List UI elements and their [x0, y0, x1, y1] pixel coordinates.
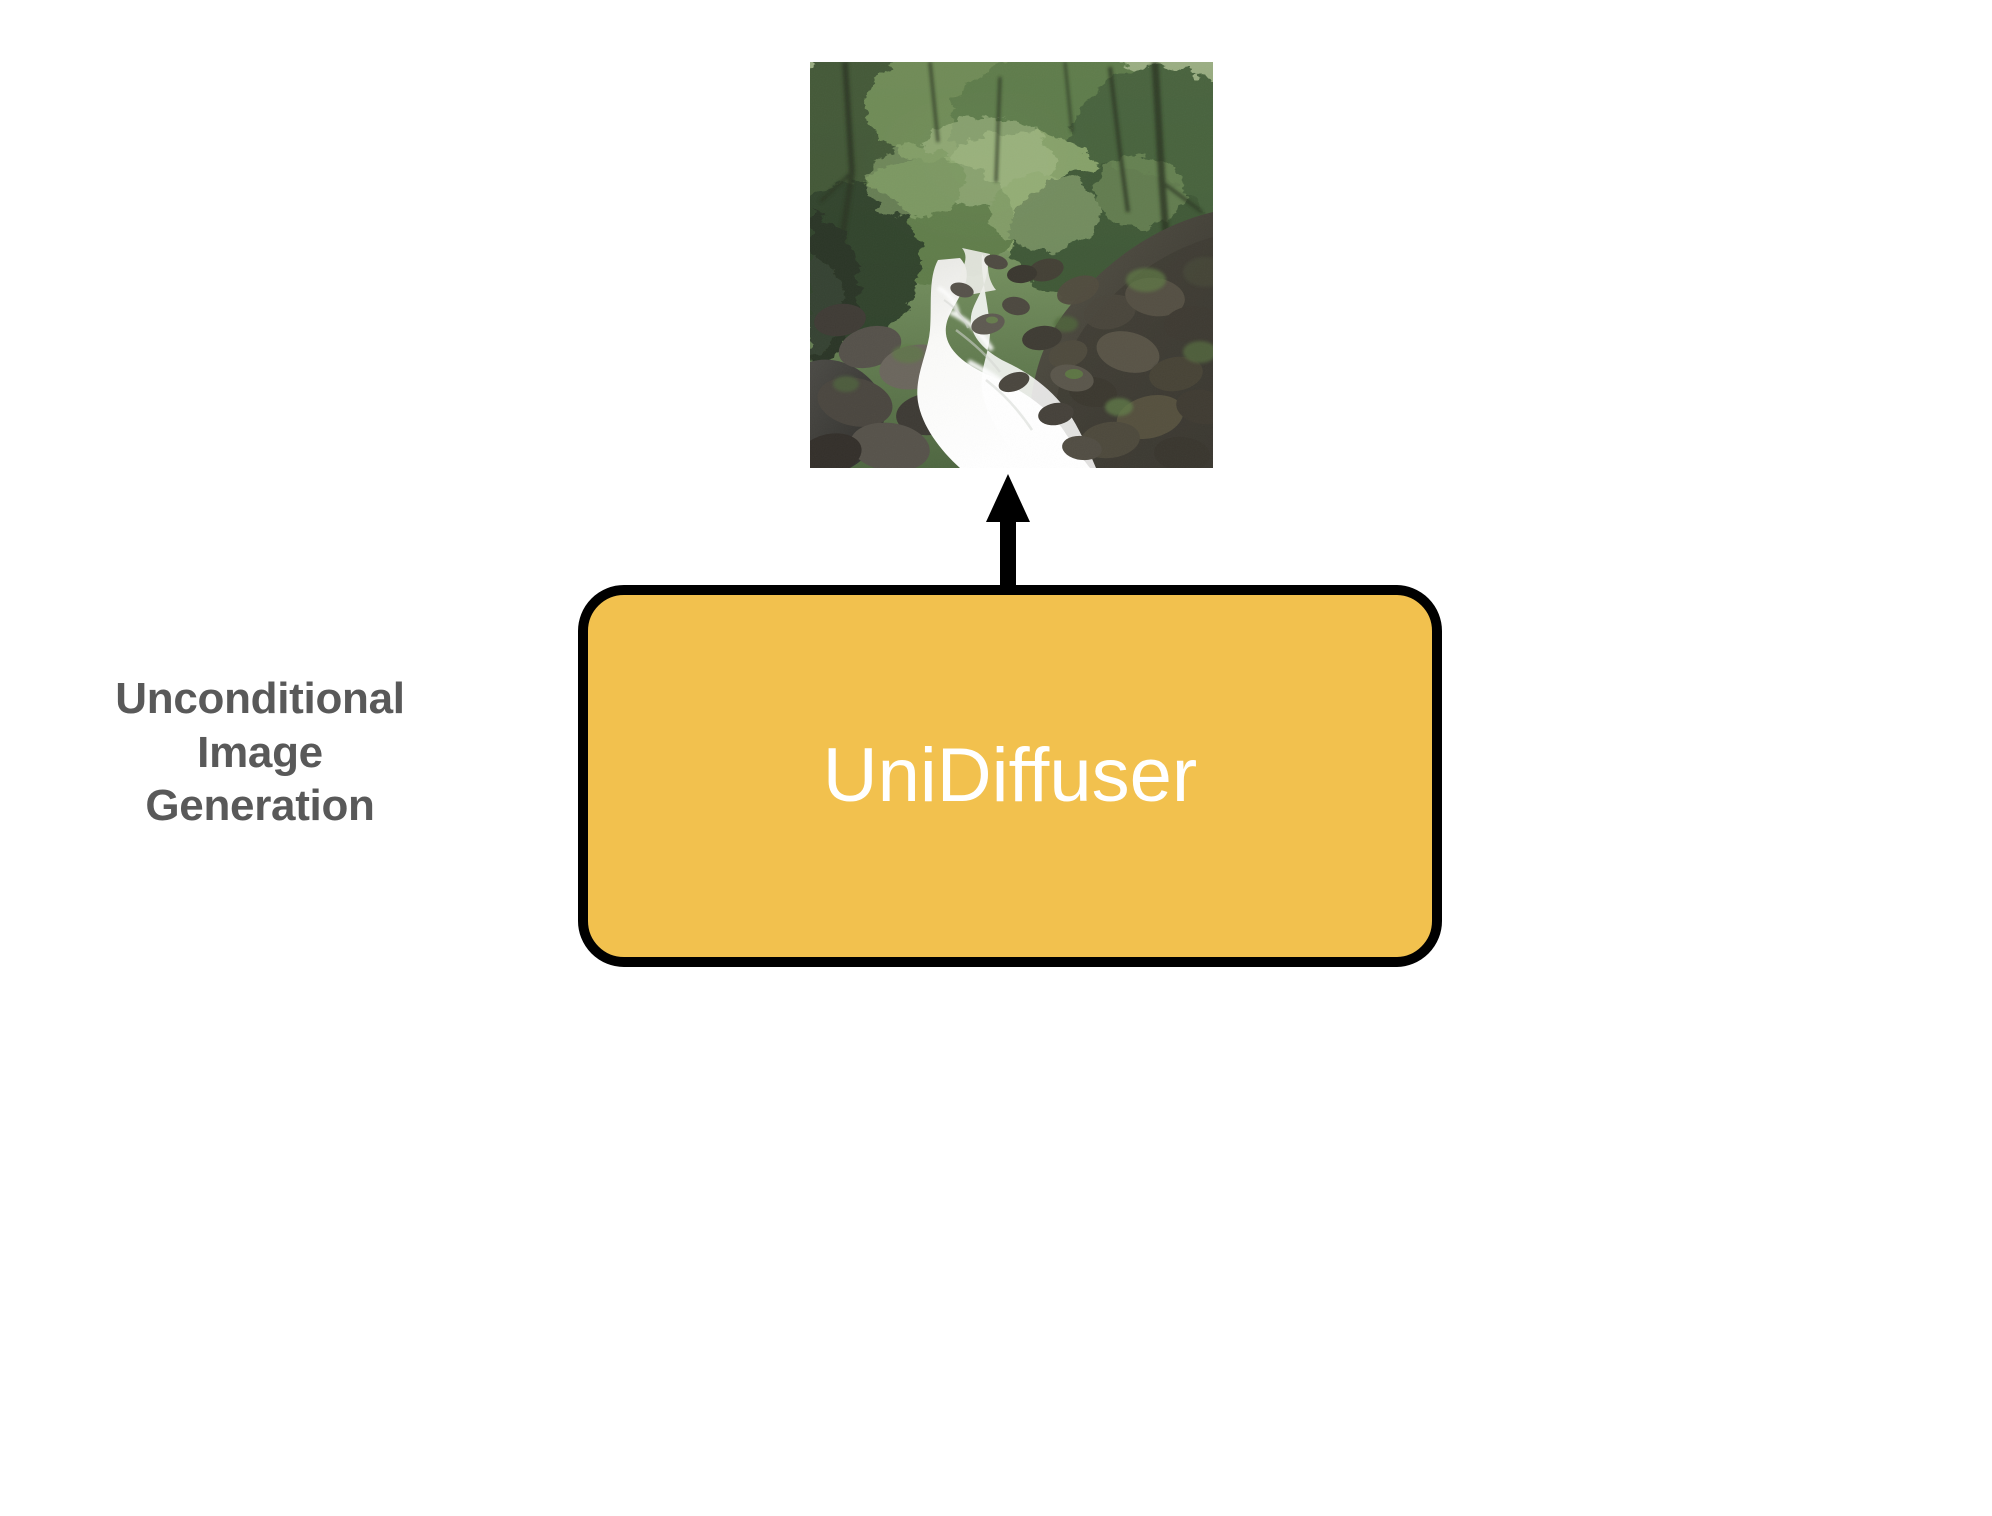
model-box-unidiffuser[interactable]: UniDiffuser	[578, 585, 1442, 967]
generated-image	[810, 62, 1213, 468]
model-box-label: UniDiffuser	[823, 738, 1198, 814]
task-label: Unconditional Image Generation	[60, 672, 460, 833]
diagram-canvas: Unconditional Image Generation	[0, 0, 1992, 1516]
arrow-up-icon	[976, 470, 1040, 592]
generated-image-render	[810, 62, 1213, 468]
